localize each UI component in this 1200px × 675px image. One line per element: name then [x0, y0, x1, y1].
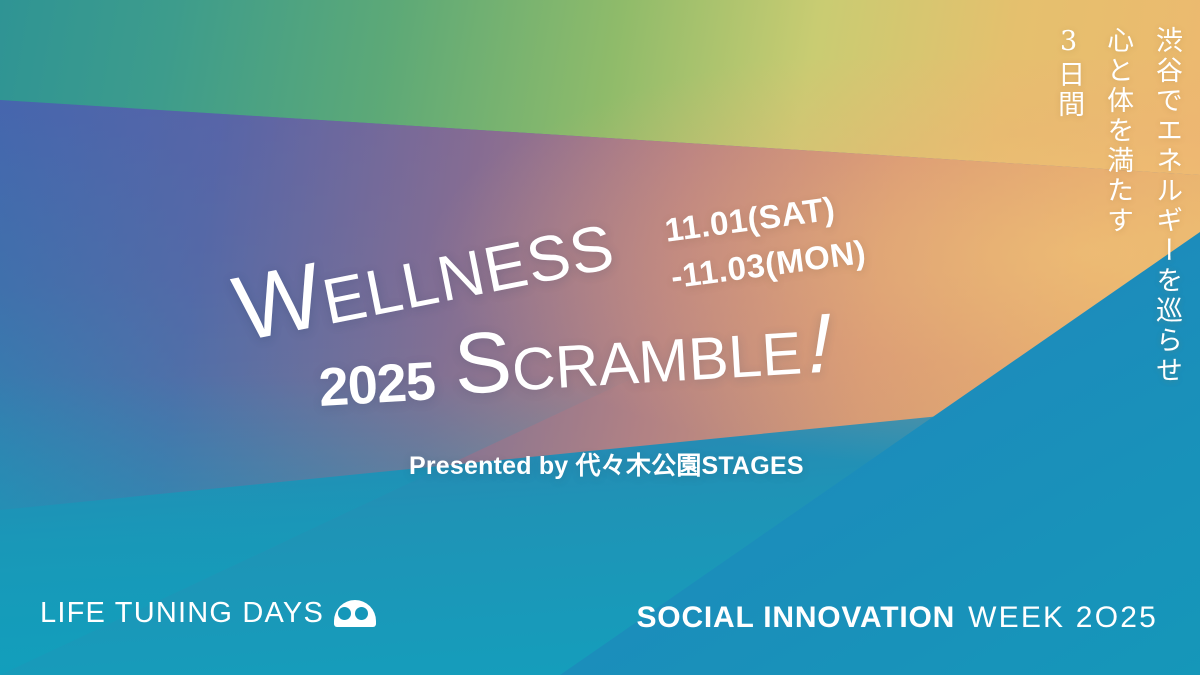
vertical-tagline-line-1: 渋谷でエネルギーを巡らせ [1149, 26, 1182, 386]
life-tuning-days-wordmark: LIFE TUNING DAYS [40, 597, 324, 630]
social-innovation-wordmark: SOCIAL INNOVATION [637, 601, 956, 635]
social-innovation-week-logo: SOCIAL INNOVATION WEEK 2O25 [637, 601, 1159, 635]
vertical-tagline-line-3: 3日間 [1051, 26, 1084, 386]
vertical-tagline-line-2: 心と体を満たす [1100, 26, 1133, 386]
life-tuning-days-logo: LIFE TUNING DAYS [40, 597, 376, 630]
headline-year: 2025 [317, 351, 436, 418]
presented-by-credit: Presented by 代々木公園STAGES [409, 446, 804, 482]
headline-exclamation-mark: ! [801, 294, 841, 394]
event-poster: Wellness 11.01(SAT) -11.03(MON) 2025 Scr… [0, 0, 1200, 675]
headline-group: Wellness 11.01(SAT) -11.03(MON) 2025 Scr… [246, 196, 966, 426]
headline-word-scramble: Scramble [451, 296, 804, 412]
infinity-loop-icon [334, 600, 376, 627]
vertical-japanese-tagline: 渋谷でエネルギーを巡らせ 心と体を満たす 3日間 [1051, 26, 1182, 386]
event-dates: 11.01(SAT) -11.03(MON) [662, 182, 869, 301]
week-2025-wordmark: WEEK 2O25 [968, 601, 1158, 635]
